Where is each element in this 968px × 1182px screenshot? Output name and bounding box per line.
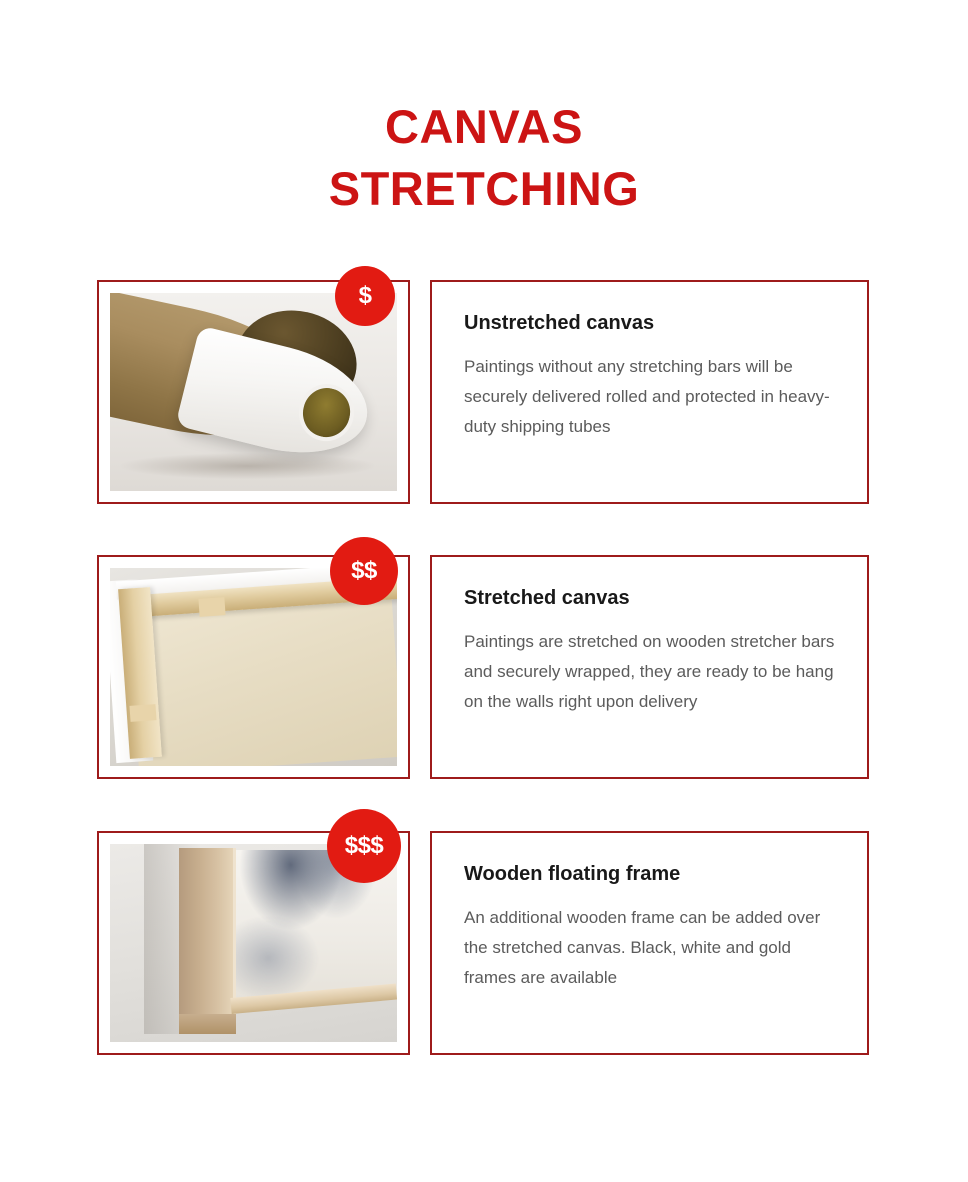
card-title-stretched-canvas: Stretched canvas [464,585,837,611]
page-title: CANVAS STRETCHING [0,96,968,220]
page-title-line-2: STRETCHING [0,158,968,220]
text-card-unstretched-canvas: Unstretched canvas Paintings without any… [430,280,869,504]
card-body-unstretched-canvas: Paintings without any stretching bars wi… [464,352,837,442]
canvas-stretching-infographic: CANVAS STRETCHING $ Unstretched canvas P… [0,0,968,1182]
text-card-wooden-floating-frame: Wooden floating frame An additional wood… [430,831,869,1055]
photo-shadow [121,453,374,479]
card-body-stretched-canvas: Paintings are stretched on wooden stretc… [464,627,837,717]
option-row-wooden-floating-frame: $$$ Wooden floating frame An additional … [0,831,968,1055]
card-body-wooden-floating-frame: An additional wooden frame can be added … [464,903,837,993]
price-badge-one-dollar: $ [335,266,395,326]
frame-side-rail [179,848,236,1032]
price-badge-three-dollar: $$$ [327,809,401,883]
option-row-unstretched-canvas: $ Unstretched canvas Paintings without a… [0,280,968,504]
stretcher-wedge-upper [198,597,225,617]
price-badge-two-dollar: $$ [330,537,398,605]
page-title-line-1: CANVAS [0,96,968,158]
stretcher-wedge-lower [130,704,157,722]
frame-corner-foot [179,1014,236,1034]
option-row-stretched-canvas: $$ Stretched canvas Paintings are stretc… [0,555,968,779]
card-title-unstretched-canvas: Unstretched canvas [464,310,837,336]
text-card-stretched-canvas: Stretched canvas Paintings are stretched… [430,555,869,779]
card-title-wooden-floating-frame: Wooden floating frame [464,861,837,887]
